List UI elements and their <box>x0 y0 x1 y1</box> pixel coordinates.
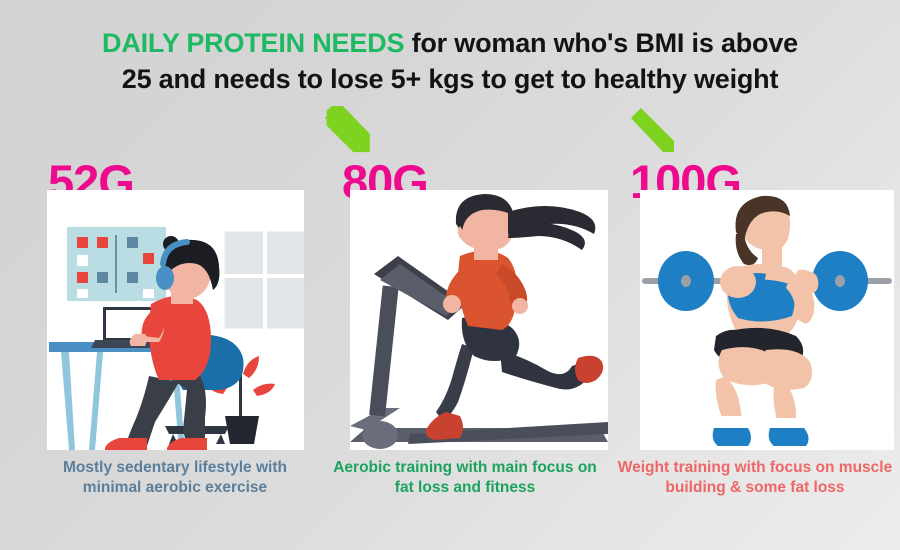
caption-sedentary: Mostly sedentary lifestyle with minimal … <box>36 458 314 499</box>
kanban-board-shape <box>67 227 166 301</box>
caption-aerobic: Aerobic training with main focus on fat … <box>326 458 604 499</box>
protein-columns: 52G <box>0 0 900 550</box>
illustration-card-desk-worker <box>47 190 304 450</box>
window-shape <box>223 230 304 330</box>
caption-weight-training: Weight training with focus on muscle bui… <box>616 458 894 499</box>
illustration-card-barbell-squat <box>640 190 894 450</box>
illustration-card-treadmill-runner <box>350 190 608 450</box>
